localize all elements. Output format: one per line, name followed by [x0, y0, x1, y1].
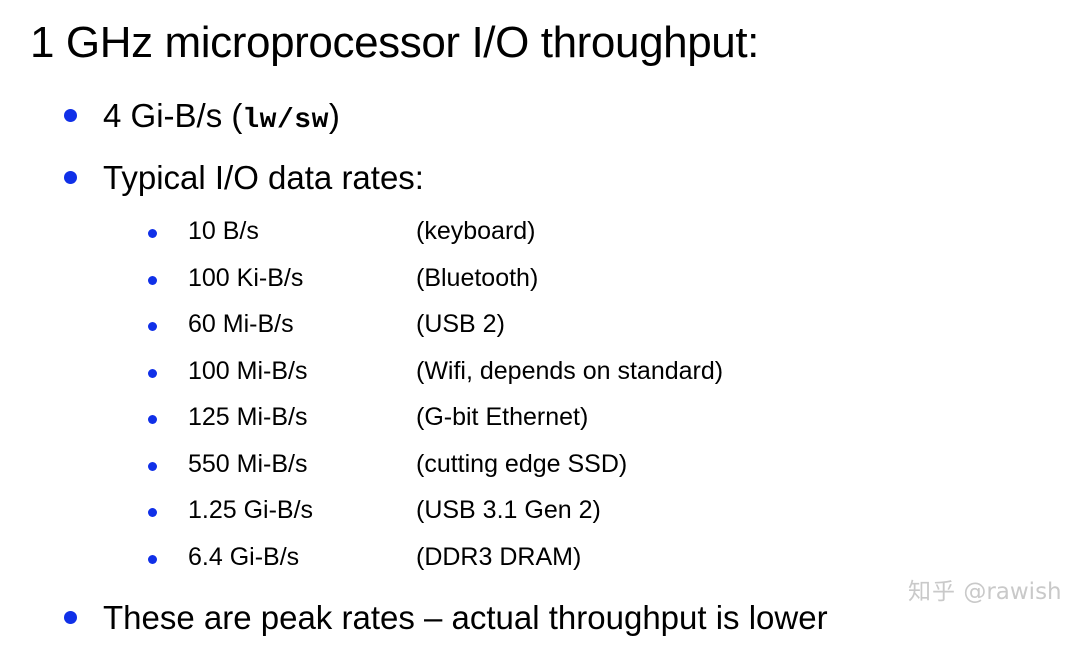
list-item: 10 B/s (keyboard) [148, 216, 723, 263]
list-item: 100 Mi-B/s (Wifi, depends on standard) [148, 356, 723, 403]
page-title: 1 GHz microprocessor I/O throughput: [30, 16, 759, 70]
list-item: 1.25 Gi-B/s (USB 3.1 Gen 2) [148, 495, 723, 542]
list-item: 6.4 Gi-B/s (DDR3 DRAM) [148, 542, 723, 589]
bullet-point-icon [148, 276, 157, 285]
list-item: 100 Ki-B/s (Bluetooth) [148, 263, 723, 310]
bullet-item-peak-note: These are peak rates – actual throughput… [64, 598, 828, 638]
bullet-item-throughput: 4 Gi-B/s (lw/sw) [64, 96, 340, 141]
bullet-point-icon [148, 322, 157, 331]
watermark-site: 知乎 [908, 579, 956, 605]
list-item: 125 Mi-B/s (G-bit Ethernet) [148, 402, 723, 449]
throughput-rate-suffix: ) [329, 97, 340, 134]
rate-device: (keyboard) [416, 216, 536, 247]
bullet-point-icon [148, 508, 157, 517]
bullet-point-icon [148, 369, 157, 378]
list-item: 550 Mi-B/s (cutting edge SSD) [148, 449, 723, 496]
rate-device: (G-bit Ethernet) [416, 402, 588, 433]
throughput-rate-prefix: 4 Gi-B/s ( [103, 97, 242, 134]
rate-value: 6.4 Gi-B/s [188, 542, 416, 573]
bullet-point-icon [64, 611, 77, 624]
data-rate-list: 10 B/s (keyboard) 100 Ki-B/s (Bluetooth)… [148, 216, 723, 588]
bullet-point-icon [64, 171, 77, 184]
rate-device: (cutting edge SSD) [416, 449, 627, 480]
bullet-point-icon [148, 555, 157, 564]
rate-device: (Bluetooth) [416, 263, 538, 294]
bullet-point-icon [148, 415, 157, 424]
bullet-label-peak-note: These are peak rates – actual throughput… [103, 598, 828, 638]
rate-value: 10 B/s [188, 216, 416, 247]
rate-value: 60 Mi-B/s [188, 309, 416, 340]
bullet-point-icon [148, 462, 157, 471]
list-item: 60 Mi-B/s (USB 2) [148, 309, 723, 356]
rate-device: (DDR3 DRAM) [416, 542, 581, 573]
bullet-item-typical-rates: Typical I/O data rates: [64, 158, 424, 198]
watermark-handle: @rawish [963, 579, 1061, 605]
rate-value: 100 Mi-B/s [188, 356, 416, 387]
bullet-point-icon [64, 109, 77, 122]
rate-value: 1.25 Gi-B/s [188, 495, 416, 526]
rate-device: (USB 2) [416, 309, 505, 340]
bullet-label-throughput: 4 Gi-B/s (lw/sw) [103, 96, 340, 141]
rate-value: 550 Mi-B/s [188, 449, 416, 480]
throughput-instruction-code: lw/sw [242, 105, 329, 136]
rate-device: (Wifi, depends on standard) [416, 356, 723, 387]
watermark: 知乎 @rawish [908, 578, 1062, 606]
bullet-point-icon [148, 229, 157, 238]
bullet-label-typical-rates: Typical I/O data rates: [103, 158, 424, 198]
rate-value: 125 Mi-B/s [188, 402, 416, 433]
rate-value: 100 Ki-B/s [188, 263, 416, 294]
rate-device: (USB 3.1 Gen 2) [416, 495, 601, 526]
